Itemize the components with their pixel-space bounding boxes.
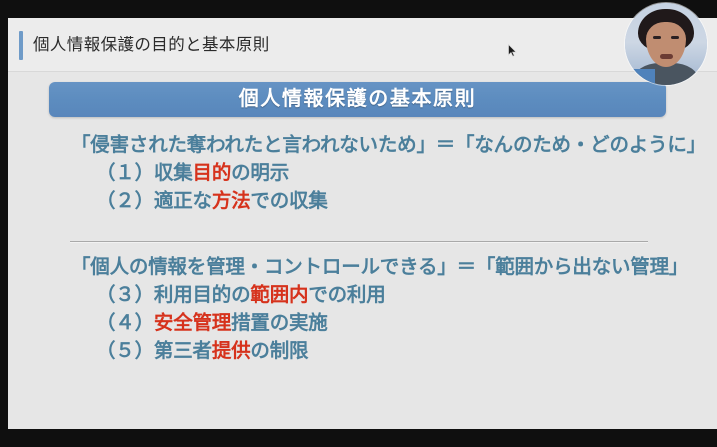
webcam-person-eye-right [671,36,679,39]
plain-text-run: の制限 [250,340,308,362]
list-item: （１）収集目的の明示 [71,159,711,187]
slide-header-bar: 個人情報保護の目的と基本原則 [8,18,717,72]
plain-text-run: での収集 [250,190,327,212]
list-item: （５）第三者提供の制限 [71,337,711,365]
plain-text-run: 「侵害された奪われたと言われないため」＝「なんのため・どのように」 [71,134,706,156]
plain-text-run: （１）収集 [96,162,193,184]
presentation-slide: 個人情報保護の目的と基本原則 個人情報保護の基本原則 「侵害された奪われたと言わ… [8,18,717,429]
list-item: （２）適正な方法での収集 [71,187,711,215]
list-item: （４）安全管理措置の実施 [71,309,711,337]
lead-line-top: 「侵害された奪われたと言われないため」＝「なんのため・どのように」 [71,131,711,159]
highlighted-term: 目的 [193,162,232,184]
content-block-bottom: 「個人の情報を管理・コントロールできる」＝「範囲から出ない管理」 （３）利用目的… [71,253,711,365]
highlighted-term: 範囲内 [250,284,308,306]
content-block-top: 「侵害された奪われたと言われないため」＝「なんのため・どのように」 （１）収集目… [71,131,711,215]
page-title: 個人情報保護の目的と基本原則 [33,31,270,60]
highlighted-term: 安全管理 [154,312,231,334]
plain-text-run: の明示 [231,162,289,184]
plain-text-run: （４） [96,312,154,334]
plain-text-run: （２）適正な [96,190,212,212]
list-item: （３）利用目的の範囲内での利用 [71,281,711,309]
header-accent-bar [19,31,23,60]
section-divider [70,241,648,243]
plain-text-run: での利用 [308,284,385,306]
slide-title-banner: 個人情報保護の基本原則 [49,82,666,117]
mouse-cursor-icon [508,44,517,57]
presenter-webcam-circle[interactable] [625,3,707,85]
webcam-person-mouth [660,54,673,59]
plain-text-run: （３）利用目的の [96,284,250,306]
plain-text-run: （５）第三者 [96,340,212,362]
lead-line-bottom: 「個人の情報を管理・コントロールできる」＝「範囲から出ない管理」 [71,253,711,281]
plain-text-run: 「個人の情報を管理・コントロールできる」＝「範囲から出ない管理」 [71,256,688,278]
video-frame: 個人情報保護の目的と基本原則 個人情報保護の基本原則 「侵害された奪われたと言わ… [0,0,717,447]
highlighted-term: 方法 [212,190,251,212]
plain-text-run: 措置の実施 [231,312,328,334]
webcam-shoulder-accent [625,69,655,85]
highlighted-term: 提供 [212,340,251,362]
banner-title-text: 個人情報保護の基本原則 [49,82,666,117]
webcam-person-eye-left [653,36,661,39]
